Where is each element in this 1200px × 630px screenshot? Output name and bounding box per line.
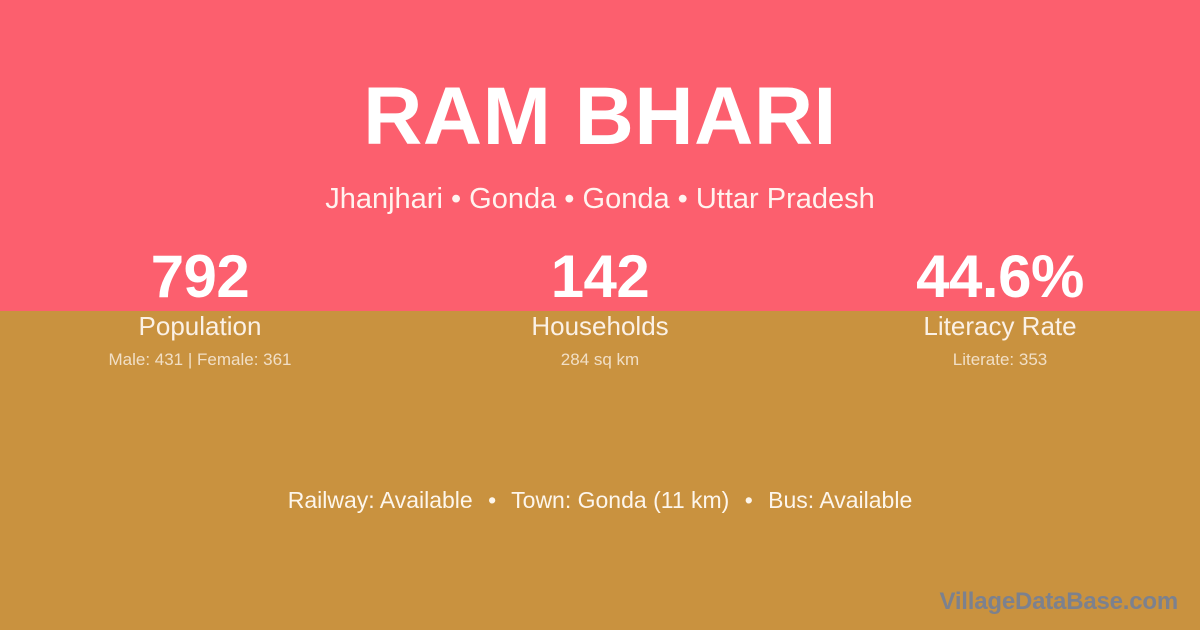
page-title: RAM BHARI <box>0 76 1200 158</box>
amenity-railway: Railway: Available <box>288 487 473 513</box>
stat-literacy-rate-detail: Literate: 353 <box>800 350 1200 370</box>
stat-households: 142 Households 284 sq km <box>400 246 800 370</box>
stat-literacy-rate-label: Literacy Rate <box>800 311 1200 341</box>
stats-row: 792 Population Male: 431 | Female: 361 1… <box>0 246 1200 370</box>
amenity-nearest-town: Town: Gonda (11 km) <box>511 487 729 513</box>
stat-literacy-rate: 44.6% Literacy Rate Literate: 353 <box>800 246 1200 370</box>
amenity-bus: Bus: Available <box>768 487 912 513</box>
amenity-separator-dot: • <box>479 485 505 515</box>
site-brand-watermark: VillageDataBase.com <box>939 588 1178 616</box>
location-breadcrumb: Jhanjhari • Gonda • Gonda • Uttar Prades… <box>0 182 1200 217</box>
amenities-row: Railway: Available • Town: Gonda (11 km)… <box>0 485 1200 515</box>
stat-households-value: 142 <box>400 246 800 308</box>
stat-population-detail: Male: 431 | Female: 361 <box>0 350 400 370</box>
stat-households-label: Households <box>400 311 800 341</box>
stat-households-detail: 284 sq km <box>400 350 800 370</box>
stat-population-value: 792 <box>0 246 400 308</box>
stat-population: 792 Population Male: 431 | Female: 361 <box>0 246 400 370</box>
village-info-card: RAM BHARI Jhanjhari • Gonda • Gonda • Ut… <box>0 0 1200 630</box>
amenity-separator-dot: • <box>736 485 762 515</box>
stat-literacy-rate-value: 44.6% <box>800 246 1200 308</box>
stat-population-label: Population <box>0 311 400 341</box>
